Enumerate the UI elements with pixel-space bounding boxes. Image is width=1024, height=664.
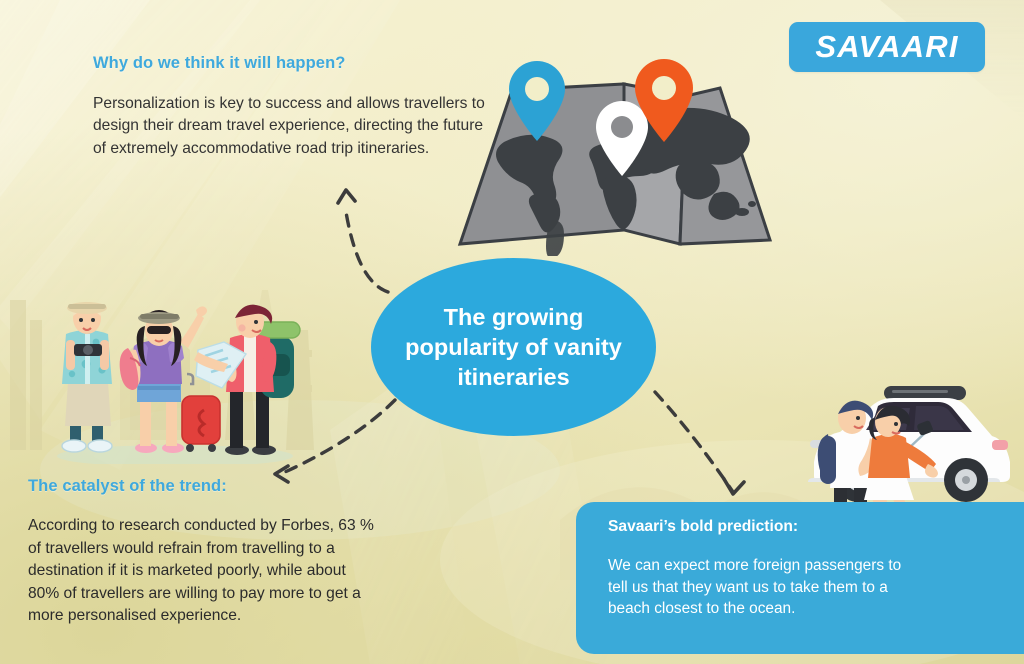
why-body: Personalization is key to success and al… — [93, 93, 485, 160]
arrow-center-to-map-path — [346, 212, 388, 292]
arrow-head-left — [275, 466, 288, 482]
arrow-center-to-prediction-path — [655, 392, 733, 492]
arrow-head-down — [724, 479, 744, 494]
arrow-center-to-catalyst-path — [285, 400, 395, 472]
why-heading: Why do we think it will happen? — [93, 54, 345, 73]
infographic-canvas: Why do we think it will happen? Personal… — [0, 0, 1024, 664]
savaari-logo-text: SAVAARI — [815, 29, 958, 65]
prediction-card: Savaari’s bold prediction: We can expect… — [576, 502, 1024, 654]
prediction-heading: Savaari’s bold prediction: — [608, 518, 798, 536]
prediction-body: We can expect more foreign passengers to… — [608, 555, 908, 620]
central-topic-oval: The growing popularity of vanity itinera… — [371, 258, 656, 436]
catalyst-heading: The catalyst of the trend: — [28, 477, 227, 496]
savaari-logo[interactable]: SAVAARI — [789, 22, 985, 72]
central-topic-title: The growing popularity of vanity itinera… — [371, 302, 656, 392]
arrow-head-up — [338, 190, 355, 203]
catalyst-body: According to research conducted by Forbe… — [28, 515, 380, 628]
